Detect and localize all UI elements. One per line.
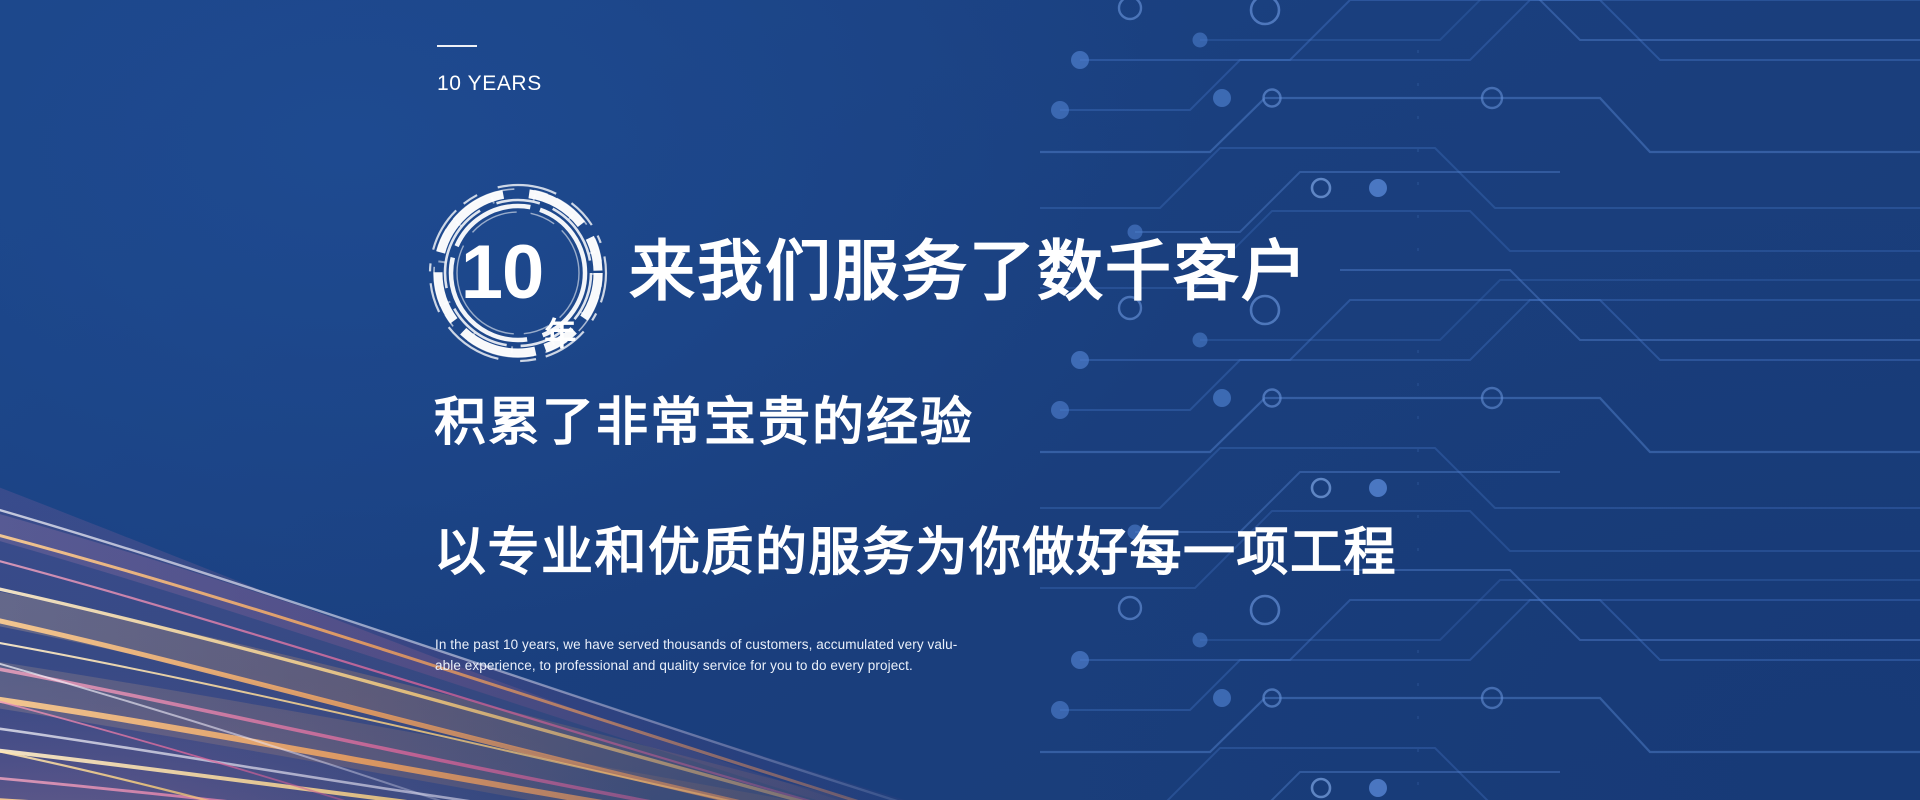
subheading-experience: 积累了非常宝贵的经验: [434, 397, 974, 449]
badge-number: 10: [461, 235, 544, 311]
caption-line-1: In the past 10 years, we have served tho…: [435, 635, 965, 656]
circuit-board-pattern: [1040, 0, 1920, 800]
years-badge: 10 年: [425, 180, 611, 366]
light-streaks-graphic: [0, 440, 1060, 800]
headline-row: 10 年 来我们服务了数千客户: [425, 180, 1309, 366]
caption-line-2: able experience, to professional and qua…: [435, 656, 965, 677]
eyebrow-label: 10 YEARS: [437, 72, 542, 96]
subheading-service: 以专业和优质的服务为你做好每一项工程: [434, 527, 1397, 579]
badge-label: 10 年: [425, 180, 611, 366]
hero-banner: 10 YEARS: [0, 0, 1920, 800]
eyebrow: 10 YEARS: [437, 45, 542, 96]
english-caption: In the past 10 years, we have served tho…: [435, 635, 965, 677]
divider-rule: [437, 45, 477, 47]
page-title: 来我们服务了数千客户: [629, 238, 1309, 308]
badge-unit: 年: [544, 318, 575, 350]
